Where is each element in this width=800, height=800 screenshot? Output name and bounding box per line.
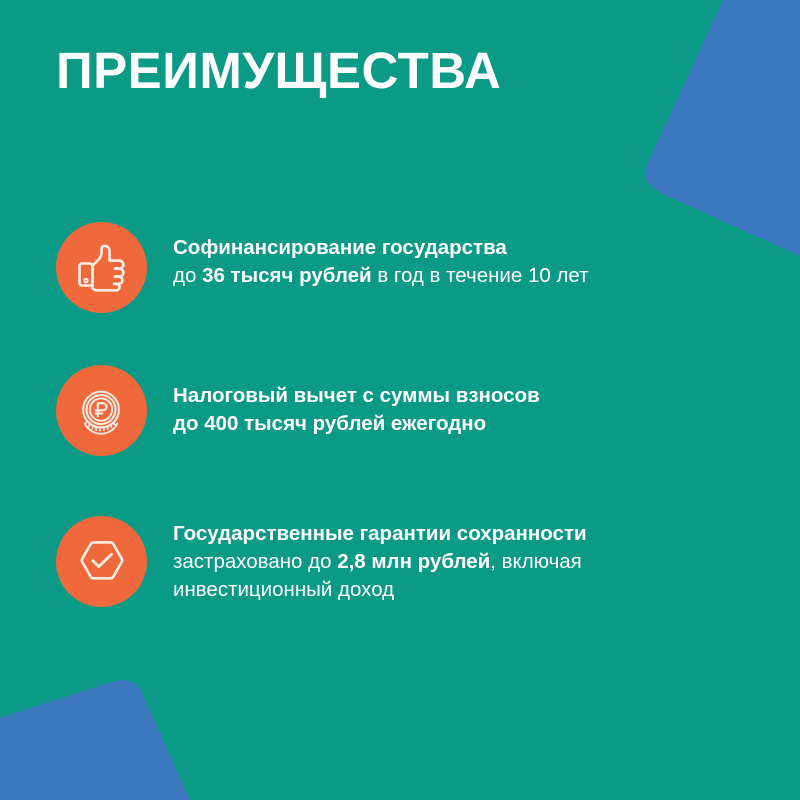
page-title: ПРЕИМУЩЕСТВА [56,40,501,102]
benefit-line-detail: до 36 тысяч рублей в год в течение 10 ле… [173,262,756,290]
benefit-item-state-guarantees: Государственные гарантии сохранности зас… [56,516,756,607]
blue-shape-bottom-left [0,680,190,800]
blue-shape-top-right [645,0,800,256]
detail-strong: 2,8 млн рублей [337,550,490,573]
benefit-line-heading: Налоговый вычет с суммы взносов [173,382,756,410]
slide-root: ПРЕИМУЩЕСТВА Софинансирование государств… [0,0,800,800]
benefit-icon-circle [56,222,147,313]
detail-post: в год в течение 10 лет [372,264,589,287]
benefit-line-heading: Софинансирование государства [173,234,756,262]
hexagon-check-icon [76,536,128,588]
benefit-text: Софинансирование государства до 36 тысяч… [147,222,756,290]
thumbs-up-icon [76,242,128,294]
benefit-item-tax-deduction: Налоговый вычет с суммы взносов до 400 т… [56,365,756,456]
detail-pre: застраховано до [173,550,337,573]
benefits-list: Софинансирование государства до 36 тысяч… [56,222,756,607]
detail-pre: до [173,264,202,287]
detail-post: , включая [490,550,582,573]
detail-strong: 36 тысяч рублей [202,264,372,287]
benefit-line-heading: Государственные гарантии сохранности [173,520,756,548]
benefit-icon-circle [56,516,147,607]
benefit-line-detail: застраховано до 2,8 млн рублей, включая [173,548,756,576]
benefit-text: Налоговый вычет с суммы взносов до 400 т… [147,365,756,438]
benefit-icon-circle [56,365,147,456]
benefit-line-detail-2: инвестиционный доход [173,576,756,604]
ruble-coin-icon [77,386,127,436]
benefit-text: Государственные гарантии сохранности зас… [147,516,756,604]
benefit-item-cofinancing: Софинансирование государства до 36 тысяч… [56,222,756,313]
benefit-line-detail: до 400 тысяч рублей ежегодно [173,410,756,438]
